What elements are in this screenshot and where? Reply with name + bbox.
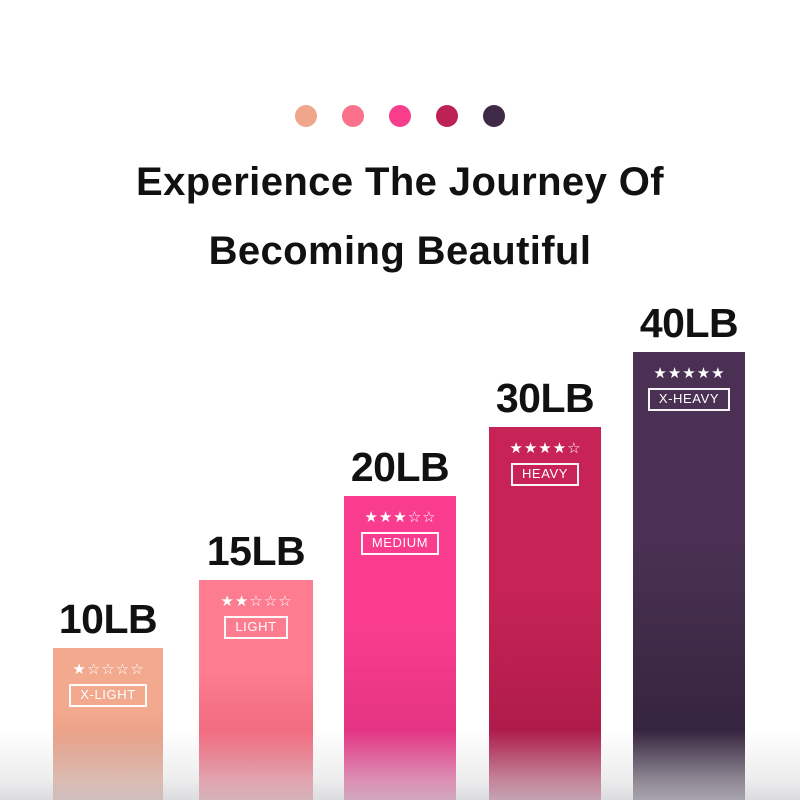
bar-content: ★★★★☆HEAVY [489,441,601,486]
level-badge: HEAVY [511,463,579,486]
star-empty-icon: ☆ [408,510,421,525]
star-filled-icon: ★ [235,594,248,609]
level-badge: LIGHT [224,616,287,639]
star-empty-icon: ☆ [249,594,262,609]
rating-stars: ★★★☆☆ [364,510,435,525]
bar-weight-label: 10LB [59,599,157,640]
level-badge: X-LIGHT [69,684,146,707]
bar-content: ★☆☆☆☆X-LIGHT [53,662,163,707]
bar-weight-label: 30LB [496,378,594,419]
bar-content: ★★★★★X-HEAVY [633,366,745,411]
rating-stars: ★★☆☆☆ [220,594,291,609]
resistance-bar[interactable]: ★★★☆☆MEDIUM [344,496,456,800]
star-empty-icon: ☆ [101,662,114,677]
level-badge: X-HEAVY [648,388,730,411]
star-filled-icon: ★ [538,441,551,456]
promo-graphic: Experience The Journey Of Becoming Beaut… [0,0,800,800]
star-filled-icon: ★ [379,510,392,525]
star-empty-icon: ☆ [567,441,580,456]
resistance-bar-chart: 10LB★☆☆☆☆X-LIGHT15LB★★☆☆☆LIGHT20LB★★★☆☆M… [0,0,800,800]
bar-group: 15LB★★☆☆☆LIGHT [199,520,313,800]
star-filled-icon: ★ [364,510,377,525]
star-filled-icon: ★ [653,366,666,381]
star-empty-icon: ☆ [116,662,129,677]
rating-stars: ★☆☆☆☆ [72,662,143,677]
bar-content: ★★★☆☆MEDIUM [344,510,456,555]
star-filled-icon: ★ [509,441,522,456]
bar-group: 40LB★★★★★X-HEAVY [633,292,745,800]
resistance-bar[interactable]: ★★★★★X-HEAVY [633,352,745,800]
star-empty-icon: ☆ [87,662,100,677]
bar-weight-label: 15LB [207,531,305,572]
bar-group: 20LB★★★☆☆MEDIUM [344,436,456,800]
level-badge: MEDIUM [361,532,439,555]
star-empty-icon: ☆ [264,594,277,609]
bar-group: 10LB★☆☆☆☆X-LIGHT [53,588,163,800]
star-empty-icon: ☆ [422,510,435,525]
star-filled-icon: ★ [72,662,85,677]
star-filled-icon: ★ [682,366,695,381]
star-filled-icon: ★ [220,594,233,609]
star-filled-icon: ★ [697,366,710,381]
resistance-bar[interactable]: ★☆☆☆☆X-LIGHT [53,648,163,800]
resistance-bar[interactable]: ★★★★☆HEAVY [489,427,601,800]
star-filled-icon: ★ [668,366,681,381]
resistance-bar[interactable]: ★★☆☆☆LIGHT [199,580,313,800]
rating-stars: ★★★★☆ [509,441,580,456]
bar-group: 30LB★★★★☆HEAVY [489,367,601,800]
star-filled-icon: ★ [711,366,724,381]
star-filled-icon: ★ [393,510,406,525]
bar-weight-label: 40LB [640,303,738,344]
star-empty-icon: ☆ [278,594,291,609]
star-filled-icon: ★ [553,441,566,456]
star-empty-icon: ☆ [130,662,143,677]
rating-stars: ★★★★★ [653,366,724,381]
bar-weight-label: 20LB [351,447,449,488]
bar-content: ★★☆☆☆LIGHT [199,594,313,639]
star-filled-icon: ★ [524,441,537,456]
